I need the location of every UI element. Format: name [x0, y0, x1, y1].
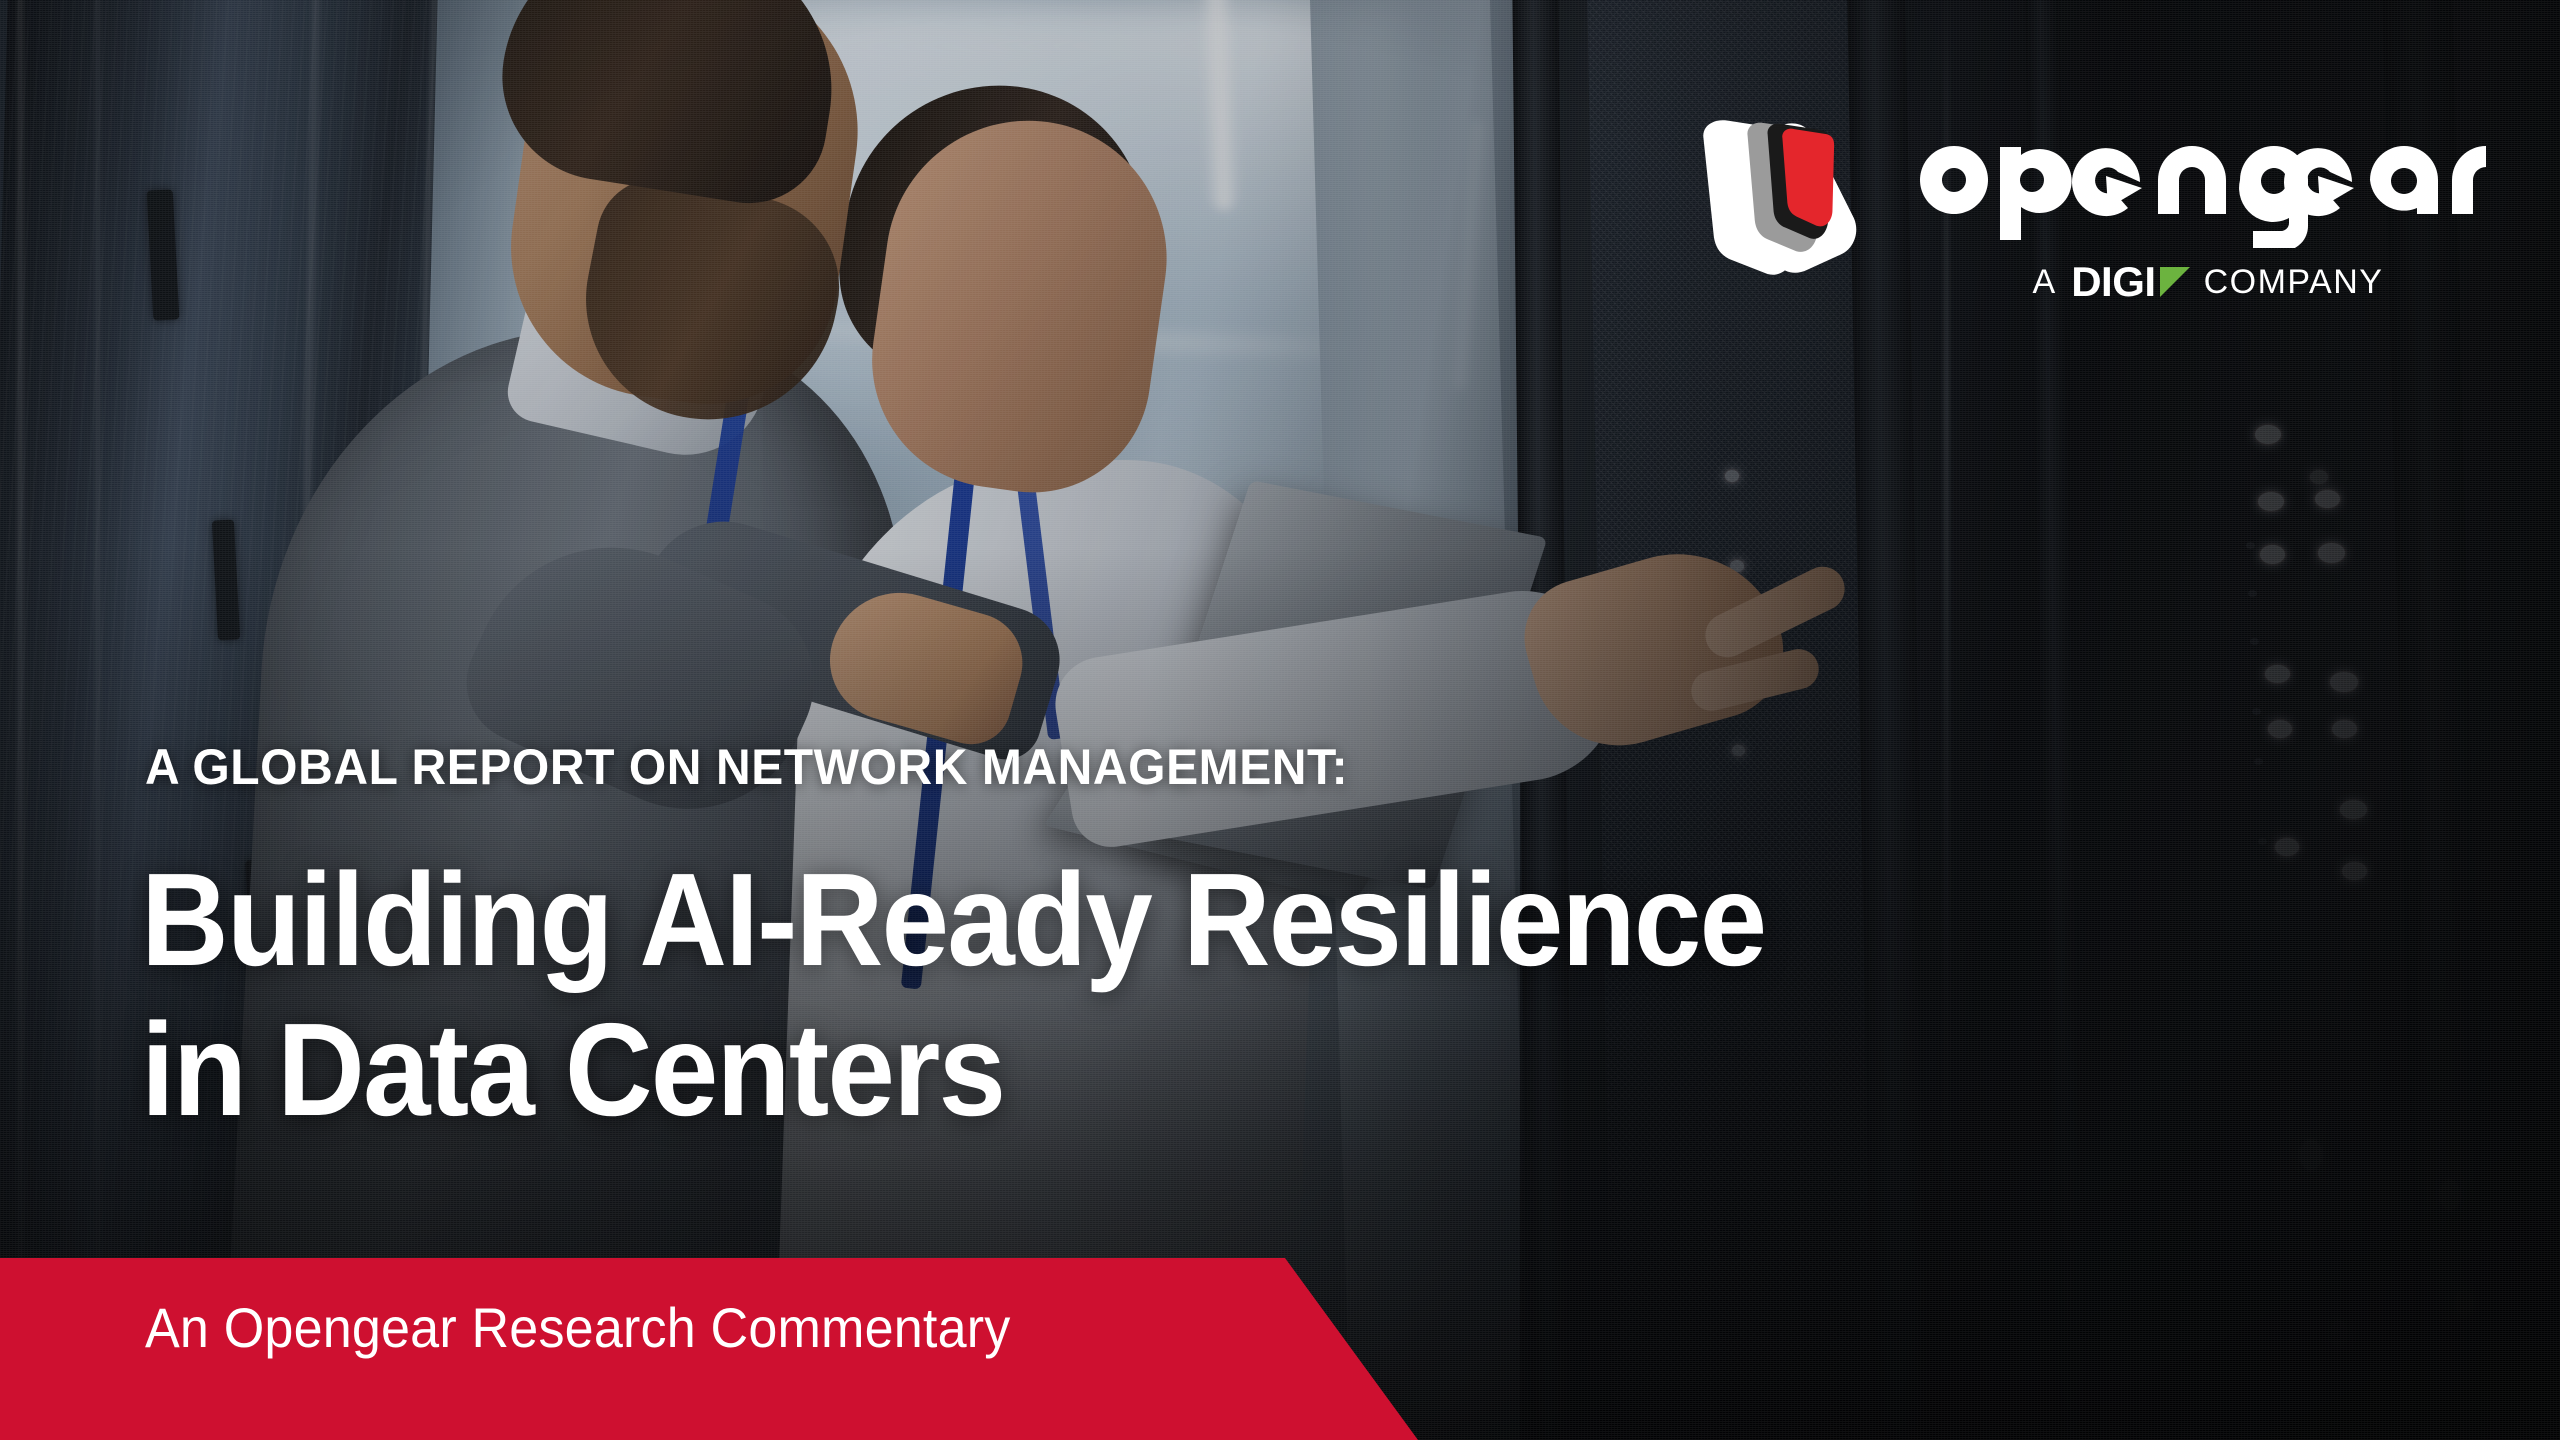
opengear-logo[interactable]: A DIGI COMPANY — [1700, 98, 2490, 313]
opengear-swoosh-mark-icon — [1700, 98, 1900, 298]
eyebrow-text: A GLOBAL REPORT ON NETWORK MANAGEMENT: — [145, 742, 1348, 792]
tagline-suffix: COMPANY — [2204, 263, 2384, 302]
headline-line-2: in Data Centers — [141, 995, 1765, 1145]
headline-line-1: Building AI-Ready Resilience — [141, 845, 1765, 995]
digi-brand: DIGI — [2071, 258, 2189, 306]
opengear-wordmark — [1896, 116, 2496, 248]
digi-company-tagline: A DIGI COMPANY — [1928, 256, 2488, 308]
tagline-prefix: A — [2033, 263, 2058, 302]
page-title: Building AI-Ready Resilience in Data Cen… — [141, 845, 1765, 1146]
report-cover: A DIGI COMPANY A GLOBAL REPORT ON NETWOR… — [0, 0, 2560, 1440]
banner-subtitle: An Opengear Research Commentary — [145, 1300, 1010, 1356]
digi-green-flag-icon — [2160, 267, 2190, 297]
